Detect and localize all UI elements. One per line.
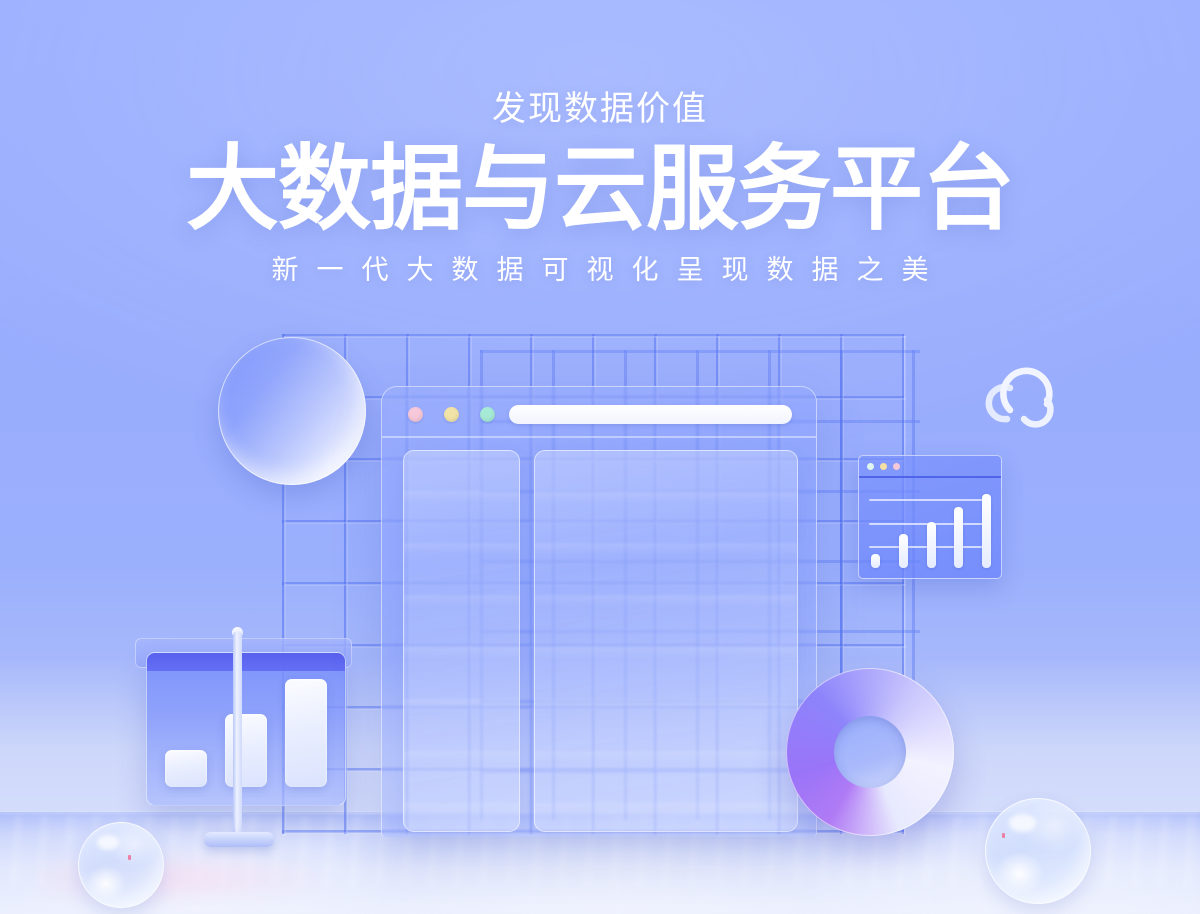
traffic-light-yellow-icon[interactable]: [444, 407, 459, 422]
glass-browser-mockup[interactable]: [381, 386, 817, 837]
mini-chart-bar: [982, 494, 991, 568]
mini-chart-bar: [871, 554, 880, 568]
mini-dot-yellow-icon[interactable]: [880, 463, 887, 470]
glass-sphere-left: [78, 822, 164, 908]
sidebar-panel[interactable]: [403, 450, 520, 832]
sphere-speck: [128, 855, 131, 860]
traffic-light-red-icon[interactable]: [408, 407, 423, 422]
mini-chart-titlebar: [859, 456, 1001, 478]
hero-subline: 新一代大数据可视化呈现数据之美: [0, 248, 1200, 287]
traffic-light-green-icon[interactable]: [480, 407, 495, 422]
sphere-speck: [1002, 833, 1005, 838]
hero-banner: 发现数据价值 大数据与云服务平台 新一代大数据可视化呈现数据之美: [0, 0, 1200, 914]
board-bar: [285, 679, 327, 787]
hero-text-block: 发现数据价值 大数据与云服务平台 新一代大数据可视化呈现数据之美: [0, 88, 1200, 287]
content-panel[interactable]: [534, 450, 798, 832]
glass-disc: [218, 337, 366, 485]
address-bar-input[interactable]: [509, 405, 792, 424]
hero-eyebrow: 发现数据价值: [0, 88, 1200, 131]
torus-hole: [834, 716, 906, 788]
mini-chart-window[interactable]: [858, 455, 1002, 579]
browser-chrome: [382, 387, 816, 436]
chrome-separator: [382, 436, 816, 438]
mini-chart-bar: [899, 534, 908, 568]
mini-chart-bar: [927, 522, 936, 568]
page-title: 大数据与云服务平台: [0, 141, 1200, 239]
stand-pole: [233, 631, 242, 843]
standing-bar-chart-board: [146, 652, 346, 806]
glass-disc-edge: [218, 337, 366, 485]
glass-sphere-right: [985, 798, 1091, 904]
mini-chart-bars-group: [871, 488, 991, 568]
board-bar: [225, 714, 267, 787]
mini-dot-green-icon[interactable]: [867, 463, 874, 470]
board-header-bar: [147, 653, 345, 671]
sidebar-panel-sheen: [404, 451, 519, 831]
gradient-torus: [786, 668, 954, 836]
mini-chart-bar: [954, 507, 963, 568]
mini-dot-pink-icon[interactable]: [893, 463, 900, 470]
stand-base: [204, 832, 274, 847]
sphere-highlight: [97, 835, 119, 850]
cloud-icon: [977, 363, 1063, 429]
content-panel-sheen: [535, 451, 797, 831]
board-bar: [165, 750, 207, 787]
board-bars-group: [165, 679, 327, 787]
sphere-highlight: [1009, 814, 1036, 833]
